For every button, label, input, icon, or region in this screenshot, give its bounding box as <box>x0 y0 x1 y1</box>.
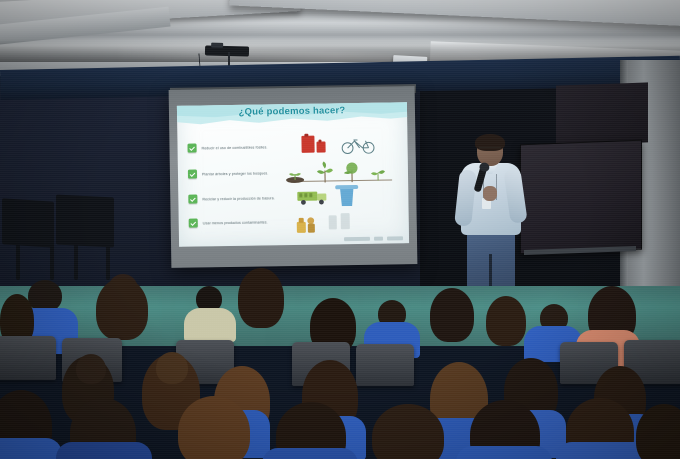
slide-footer-logos <box>344 236 403 241</box>
stacked-chair <box>2 198 54 248</box>
slide-bullet-row: Plantar árboles y proteger los bosques. <box>188 168 269 178</box>
logo-mark-1 <box>344 237 370 241</box>
wall-monitor-upper <box>556 82 648 145</box>
audience-head <box>246 270 276 298</box>
audience-body <box>456 446 552 459</box>
glasses-icon <box>479 147 501 152</box>
logo-mark-2 <box>374 237 383 241</box>
garbage-truck-icon <box>296 188 330 211</box>
audience-head <box>156 352 188 384</box>
seat-back <box>356 344 414 386</box>
seedling-icon <box>368 167 388 187</box>
recycle-bin-lid-icon <box>335 185 358 189</box>
presentation-slide: ¿Qué podemos hacer? Reducir el uso de co… <box>177 102 409 247</box>
audience-body <box>0 438 62 459</box>
audience-hair <box>178 396 250 459</box>
ceiling-beam <box>230 0 680 27</box>
checkmark-icon <box>188 195 197 204</box>
wall-mounted-tv <box>520 140 642 255</box>
spray-bottle-icon <box>329 215 337 229</box>
audience-body <box>262 448 358 459</box>
fuel-can-icon <box>316 141 325 152</box>
slide-bullet-row: Usar menos productos contaminantes. <box>189 217 268 227</box>
seedling-icon <box>286 167 314 188</box>
slide-bullet-text: Reciclar y reducir la producción de basu… <box>202 196 274 201</box>
bicycle-icon <box>340 136 376 160</box>
cleaning-products-icon <box>295 214 319 239</box>
recycle-bin-icon <box>338 187 355 206</box>
slide-bullet-row: Reciclar y reducir la producción de basu… <box>188 193 275 203</box>
logo-mark-3 <box>387 236 403 240</box>
tree-icon <box>314 161 336 188</box>
checkmark-icon <box>188 170 197 179</box>
audience-head <box>76 354 106 384</box>
checkmark-icon <box>188 144 197 153</box>
audience <box>0 270 680 459</box>
slide-bullet-text: Reducir el uso de combustibles fósiles. <box>202 145 268 150</box>
seat-back <box>0 336 56 380</box>
checkmark-icon <box>189 219 198 228</box>
audience-hair <box>96 278 148 340</box>
auditorium-photo: ¿Qué podemos hacer? Reducir el uso de co… <box>0 0 680 459</box>
left-wall <box>0 86 180 286</box>
audience-body <box>56 442 152 459</box>
presenter-hand <box>483 186 497 201</box>
slide-bullet-text: Plantar árboles y proteger los bosques. <box>202 171 268 176</box>
audience-body <box>184 308 236 342</box>
slide-bullet-row: Reducir el uso de combustibles fósiles. <box>188 142 268 152</box>
stacked-chair <box>56 194 114 247</box>
audience-hair <box>486 296 526 346</box>
slide-bullet-text: Usar menos productos contaminantes. <box>203 220 268 225</box>
audience-hair <box>430 288 474 342</box>
fuel-can-icon <box>301 136 314 153</box>
spray-bottle-icon <box>341 213 350 229</box>
